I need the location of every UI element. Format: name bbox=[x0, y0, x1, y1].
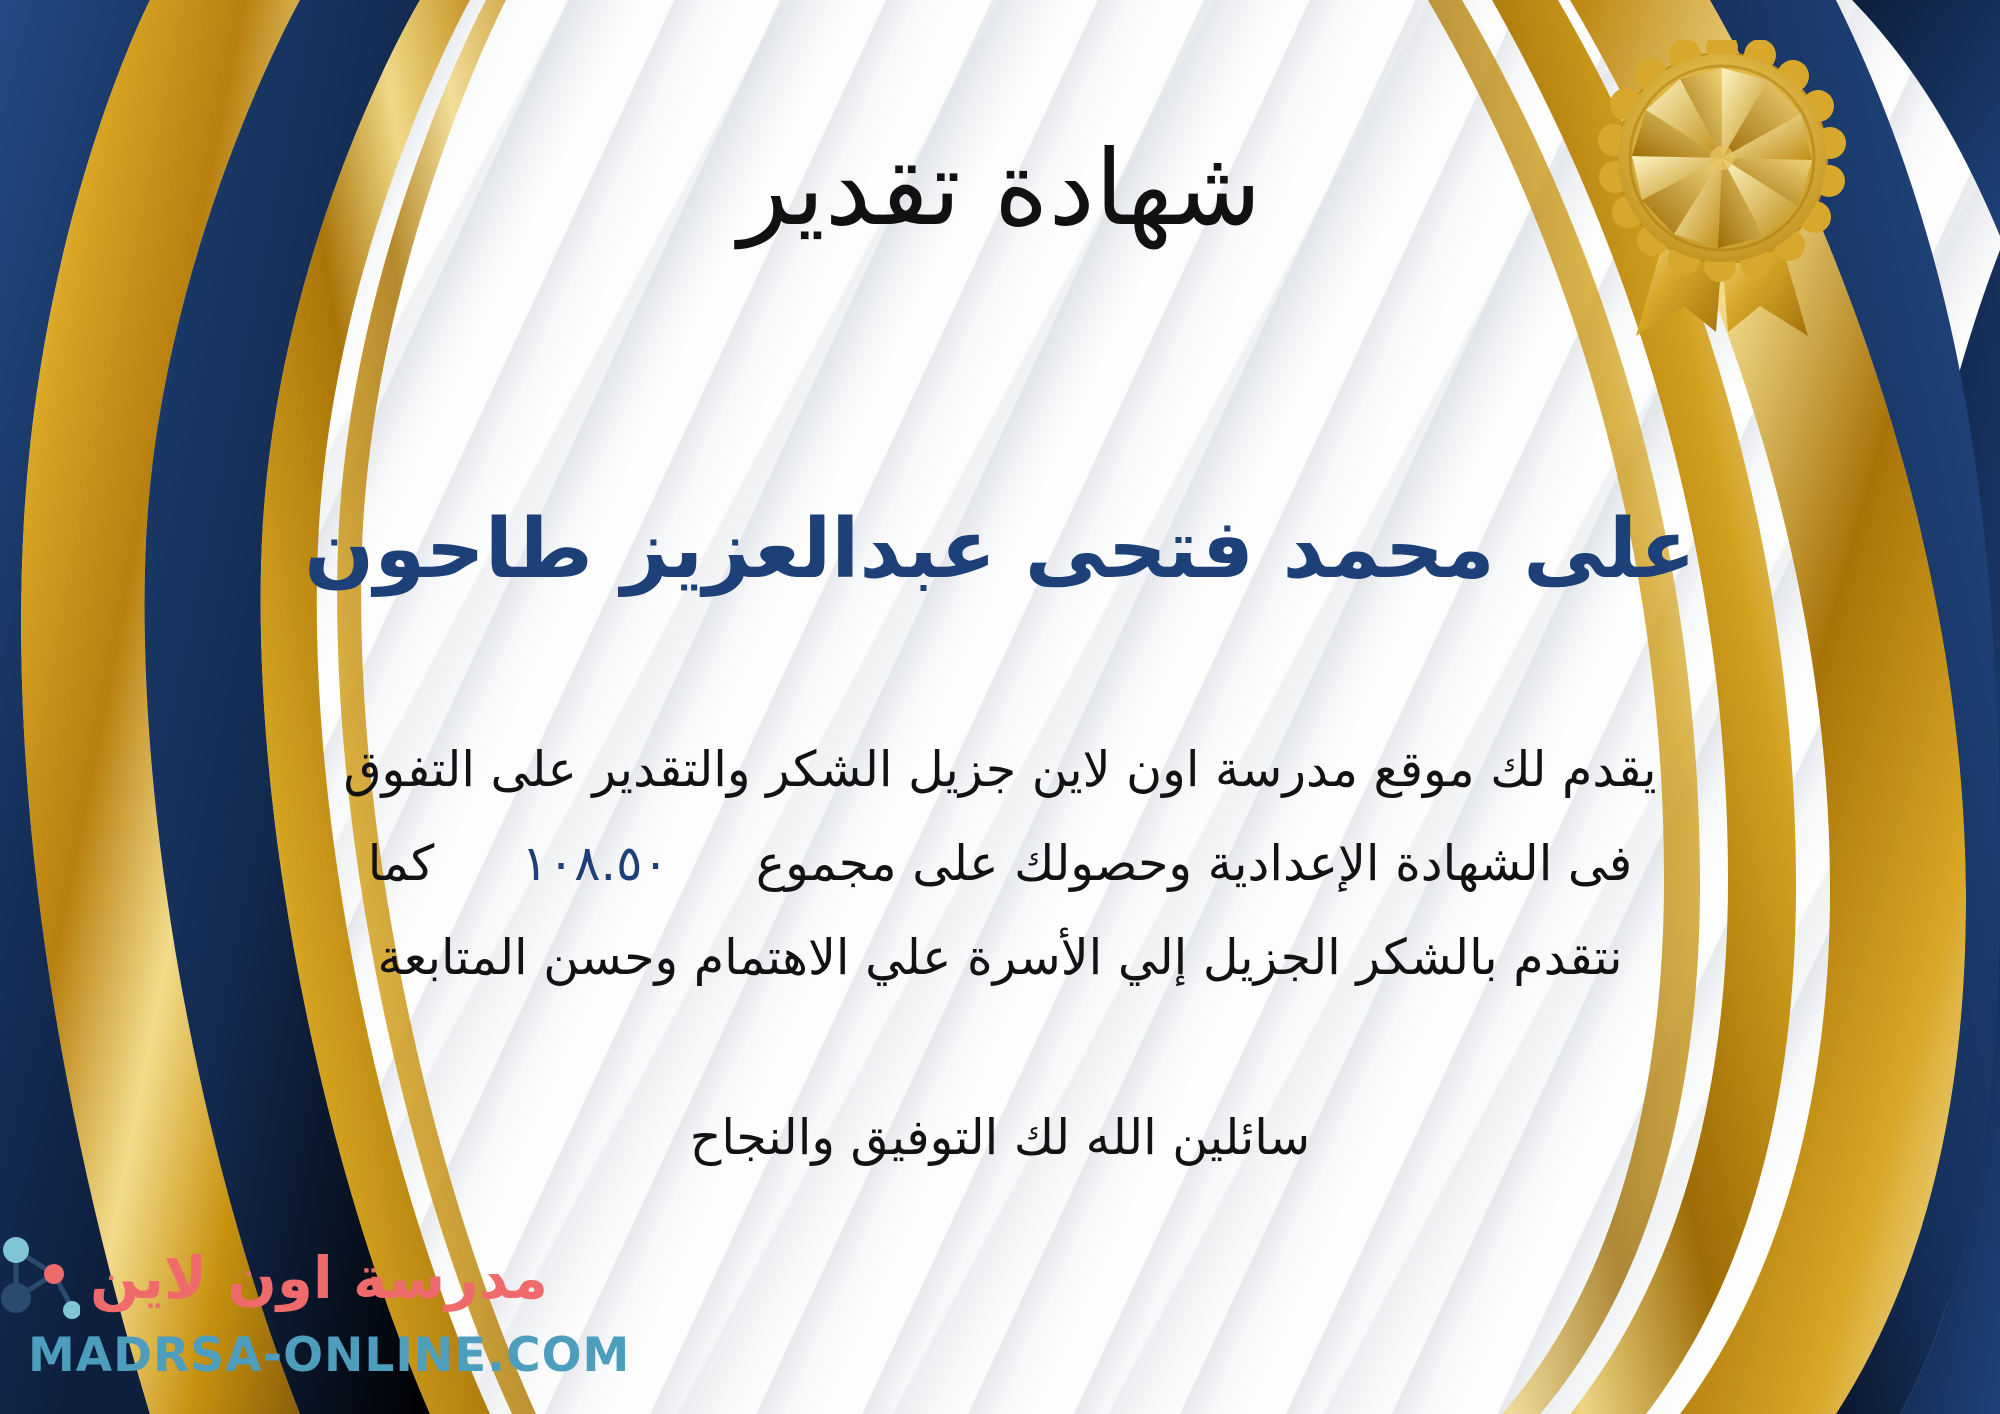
recipient-name: على محمد فتحى عبدالعزيز طاحون bbox=[0, 505, 2000, 595]
logo-website-url[interactable]: MADRSA-ONLINE.COM bbox=[28, 1332, 548, 1379]
logo-arabic-name: مدرسة اون لاين bbox=[90, 1249, 548, 1307]
madrsa-online-logo[interactable]: مدرسة اون لاين MADRSA-ONLINE.COM bbox=[28, 1230, 548, 1390]
closing-line: سائلين الله لك التوفيق والنجاح bbox=[0, 1112, 2000, 1163]
body-line-2-left-text: كما bbox=[368, 835, 435, 892]
body-line-3: نتقدم بالشكر الجزيل إلي الأسرة علي الاهت… bbox=[0, 932, 2000, 983]
body-line-2: فى الشهادة الإعدادية وحصولك على مجموع ١٠… bbox=[0, 838, 2000, 889]
body-line-1: يقدم لك موقع مدرسة اون لاين جزيل الشكر و… bbox=[0, 744, 2000, 795]
network-nodes-icon bbox=[0, 1230, 80, 1326]
body-line-2-right-text: فى الشهادة الإعدادية وحصولك على مجموع bbox=[756, 835, 1632, 892]
certificate-content: شهادة تقدير على محمد فتحى عبدالعزيز طاحو… bbox=[0, 0, 2000, 1414]
certificate-canvas: شهادة تقدير على محمد فتحى عبدالعزيز طاحو… bbox=[0, 0, 2000, 1414]
score-value: ١٠٨.٥٠ bbox=[522, 835, 669, 892]
certificate-title: شهادة تقدير bbox=[0, 134, 2000, 243]
logo-top-row: مدرسة اون لاين bbox=[28, 1230, 548, 1326]
